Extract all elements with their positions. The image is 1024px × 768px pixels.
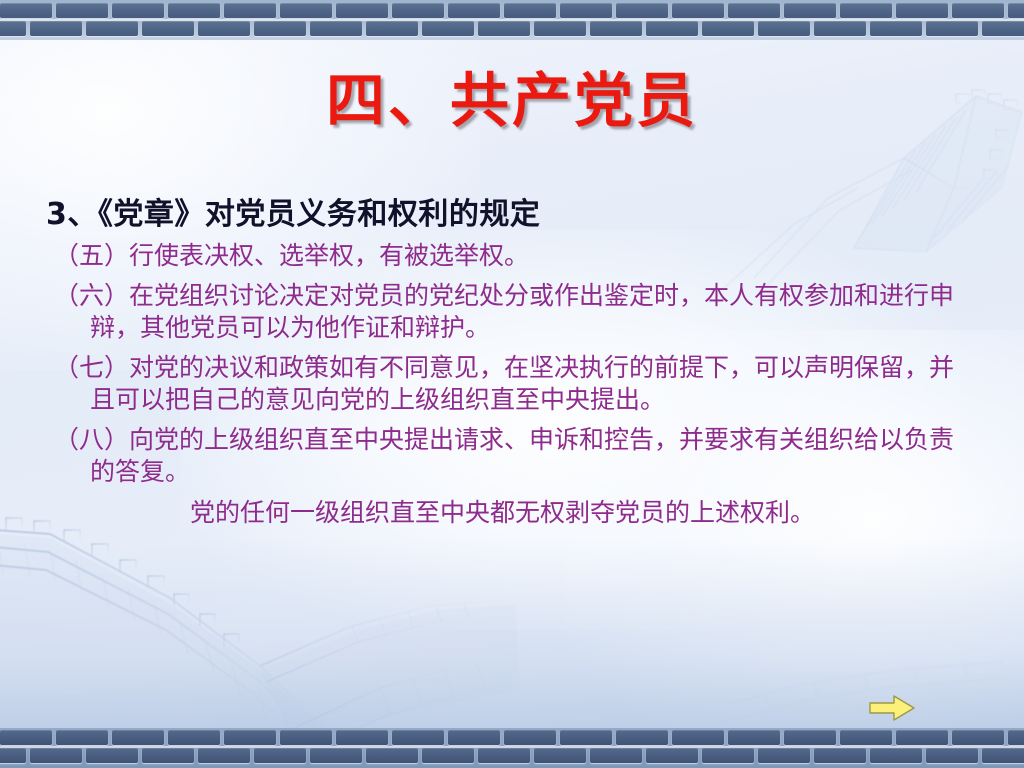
brick [0, 3, 52, 18]
brick [590, 21, 642, 36]
list-item-text: 行使表决权、选举权，有被选举权。 [129, 241, 529, 270]
list-item-marker: （八） [54, 425, 129, 454]
brick [672, 730, 724, 745]
slide-body: 3、《党章》对党员义务和权利的规定 （五）行使表决权、选举权，有被选举权。 （六… [0, 196, 1024, 529]
brick [448, 730, 500, 745]
brick [926, 21, 978, 36]
brick [646, 21, 698, 36]
brick-row [0, 21, 1024, 36]
brick [814, 21, 866, 36]
brick [702, 21, 754, 36]
brick [952, 3, 1004, 18]
brick [534, 748, 586, 763]
brick [504, 730, 556, 745]
brick [728, 3, 780, 18]
brick [560, 730, 612, 745]
brick [616, 730, 668, 745]
brick [112, 3, 164, 18]
brick [224, 3, 276, 18]
list-item-marker: （七） [54, 353, 129, 382]
brick [814, 748, 866, 763]
brick [758, 748, 810, 763]
brick [672, 3, 724, 18]
brick [366, 748, 418, 763]
brick [168, 730, 220, 745]
brick [366, 21, 418, 36]
list-item: （七）对党的决议和政策如有不同意见，在坚决执行的前提下，可以声明保留，并且可以把… [54, 352, 970, 417]
next-slide-arrow[interactable] [868, 694, 916, 722]
brick [86, 21, 138, 36]
brick [30, 21, 82, 36]
list-item-text: 在党组织讨论决定对党员的党纪处分或作出鉴定时，本人有权参加和进行申辩，其他党员可… [90, 281, 954, 343]
brick [336, 3, 388, 18]
brick [280, 3, 332, 18]
brick [534, 21, 586, 36]
presentation-slide: 四、共产党员 3、《党章》对党员义务和权利的规定 （五）行使表决权、选举权，有被… [0, 0, 1024, 768]
brick [702, 748, 754, 763]
closing-statement: 党的任何一级组织直至中央都无权剥夺党员的上述权利。 [190, 497, 970, 530]
brick [758, 21, 810, 36]
brick [254, 21, 306, 36]
brick [728, 730, 780, 745]
brick [112, 730, 164, 745]
brick [224, 730, 276, 745]
brick [478, 748, 530, 763]
brick [840, 730, 892, 745]
brick-row [0, 3, 1024, 18]
brick [280, 730, 332, 745]
slide-title: 四、共产党员 [0, 70, 1024, 132]
brick [478, 21, 530, 36]
brick [896, 730, 948, 745]
section-heading: 3、《党章》对党员义务和权利的规定 [46, 196, 1024, 234]
list-item: （五）行使表决权、选举权，有被选举权。 [54, 240, 970, 273]
brick [86, 748, 138, 763]
brick [422, 748, 474, 763]
list-item-marker: （六） [54, 281, 129, 310]
list-item-text: 向党的上级组织直至中央提出请求、申诉和控告，并要求有关组织给以负责的答复。 [90, 425, 954, 487]
list-item: （六）在党组织讨论决定对党员的党纪处分或作出鉴定时，本人有权参加和进行申辩，其他… [54, 280, 970, 345]
brick [646, 748, 698, 763]
brick [840, 3, 892, 18]
brick [896, 3, 948, 18]
list-item: （八）向党的上级组织直至中央提出请求、申诉和控告，并要求有关组织给以负责的答复。 [54, 424, 970, 489]
brick [168, 3, 220, 18]
brick [1008, 730, 1024, 745]
brick [56, 730, 108, 745]
brick [870, 21, 922, 36]
brick [504, 3, 556, 18]
brick-border-bottom [0, 728, 1024, 768]
brick [198, 21, 250, 36]
brick [926, 748, 978, 763]
brick [310, 21, 362, 36]
brick [448, 3, 500, 18]
brick [560, 3, 612, 18]
brick [392, 730, 444, 745]
brick [142, 748, 194, 763]
brick [616, 3, 668, 18]
list-item-marker: （五） [54, 241, 129, 270]
brick [952, 730, 1004, 745]
brick [56, 3, 108, 18]
brick [982, 21, 1024, 36]
brick [870, 748, 922, 763]
brick [254, 748, 306, 763]
brick [590, 748, 642, 763]
list-item-text: 对党的决议和政策如有不同意见，在坚决执行的前提下，可以声明保留，并且可以把自己的… [90, 353, 954, 415]
brick [422, 21, 474, 36]
brick-row [0, 748, 1024, 763]
brick [0, 748, 26, 763]
brick [1008, 3, 1024, 18]
brick [310, 748, 362, 763]
brick [30, 748, 82, 763]
brick [982, 748, 1024, 763]
brick [142, 21, 194, 36]
brick [0, 21, 26, 36]
brick [0, 730, 52, 745]
brick [784, 730, 836, 745]
brick-border-top [0, 0, 1024, 40]
brick [198, 748, 250, 763]
brick-row [0, 730, 1024, 745]
brick [336, 730, 388, 745]
brick [784, 3, 836, 18]
brick [392, 3, 444, 18]
